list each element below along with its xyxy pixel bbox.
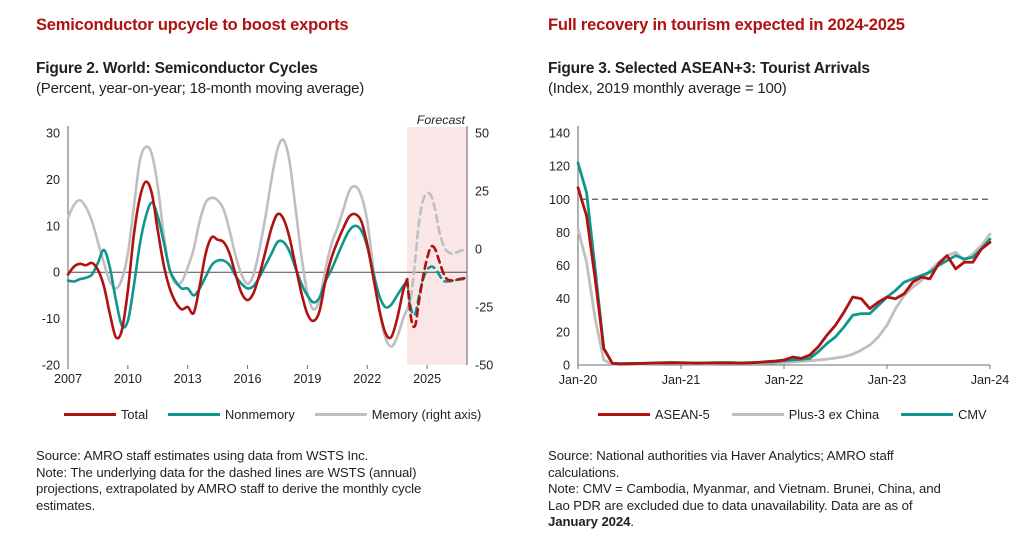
- svg-text:2013: 2013: [174, 372, 202, 386]
- right-note-bold-date: January 2024: [548, 514, 630, 529]
- svg-text:-50: -50: [475, 359, 493, 373]
- tourist-arrivals-svg: 020406080100120140Jan-20Jan-21Jan-22Jan-…: [512, 112, 1024, 402]
- right-source-line-2: calculations.: [548, 465, 1018, 482]
- series-line: [578, 188, 990, 364]
- right-axes: [578, 126, 990, 365]
- svg-text:60: 60: [556, 259, 570, 273]
- svg-text:Jan-24: Jan-24: [971, 373, 1010, 387]
- svg-text:Jan-22: Jan-22: [765, 373, 804, 387]
- svg-text:Jan-20: Jan-20: [559, 373, 598, 387]
- legend-swatch-nonmemory: [168, 413, 220, 416]
- legend-label-asean5: ASEAN-5: [655, 407, 710, 422]
- svg-text:50: 50: [475, 127, 489, 141]
- svg-text:100: 100: [549, 193, 570, 207]
- left-note-line-2: projections, extrapolated by AMRO staff …: [36, 481, 506, 498]
- svg-text:-10: -10: [42, 312, 60, 326]
- legend-label-memory: Memory (right axis): [372, 407, 482, 422]
- right-note-line-1: Note: CMV = Cambodia, Myanmar, and Vietn…: [548, 481, 1018, 498]
- svg-text:140: 140: [549, 127, 570, 141]
- svg-text:40: 40: [556, 292, 570, 306]
- left-banner-headline: Semiconductor upcycle to boost exports: [36, 16, 502, 34]
- legend-swatch-asean5: [598, 413, 650, 416]
- svg-text:0: 0: [475, 243, 482, 257]
- figure-3-panel: Full recovery in tourism expected in 202…: [512, 0, 1024, 559]
- svg-text:120: 120: [549, 160, 570, 174]
- svg-text:0: 0: [563, 359, 570, 373]
- legend-item-plus3: Plus-3 ex China: [732, 407, 879, 422]
- right-banner-headline: Full recovery in tourism expected in 202…: [548, 16, 1014, 34]
- right-note-tail: .: [630, 514, 634, 529]
- right-tick-labels: 020406080100120140Jan-20Jan-21Jan-22Jan-…: [549, 127, 1009, 388]
- forecast-label: Forecast: [417, 113, 466, 127]
- figure-2-legend: Total Nonmemory Memory (right axis): [64, 407, 481, 422]
- legend-label-cmv: CMV: [958, 407, 986, 422]
- right-note-line-2: Lao PDR are excluded due to data unavail…: [548, 498, 1018, 515]
- legend-label-total: Total: [121, 407, 148, 422]
- right-figure-title: Figure 3. Selected ASEAN+3: Tourist Arri…: [548, 60, 1016, 78]
- legend-label-nonmemory: Nonmemory: [225, 407, 295, 422]
- figure-3-legend: ASEAN-5 Plus-3 ex China CMV: [598, 407, 987, 422]
- left-note-line-3: estimates.: [36, 498, 506, 515]
- svg-text:2025: 2025: [413, 372, 441, 386]
- legend-swatch-memory: [315, 413, 367, 416]
- figure-2-chart: Forecast -20-100102030-50-25025502007201…: [0, 112, 512, 402]
- left-figure-subtitle: (Percent, year-on-year; 18-month moving …: [36, 80, 504, 98]
- svg-text:2007: 2007: [54, 372, 82, 386]
- svg-text:Jan-23: Jan-23: [868, 373, 907, 387]
- right-figure-subtitle: (Index, 2019 monthly average = 100): [548, 80, 1016, 98]
- legend-item-memory: Memory (right axis): [315, 407, 482, 422]
- svg-text:30: 30: [46, 127, 60, 141]
- legend-swatch-cmv: [901, 413, 953, 416]
- left-source-line: Source: AMRO staff estimates using data …: [36, 448, 506, 465]
- left-figure-title: Figure 2. World: Semiconductor Cycles: [36, 60, 504, 78]
- legend-item-total: Total: [64, 407, 148, 422]
- legend-swatch-plus3: [732, 413, 784, 416]
- svg-text:-20: -20: [42, 359, 60, 373]
- svg-text:80: 80: [556, 226, 570, 240]
- legend-item-cmv: CMV: [901, 407, 986, 422]
- right-series-group: [578, 163, 990, 365]
- legend-label-plus3: Plus-3 ex China: [789, 407, 879, 422]
- figures-page: Semiconductor upcycle to boost exports F…: [0, 0, 1024, 559]
- legend-item-nonmemory: Nonmemory: [168, 407, 295, 422]
- series-line: [578, 229, 990, 364]
- svg-text:25: 25: [475, 185, 489, 199]
- left-note-line-1: Note: The underlying data for the dashed…: [36, 465, 506, 482]
- right-source-line-1: Source: National authorities via Haver A…: [548, 448, 1018, 465]
- svg-text:2016: 2016: [234, 372, 262, 386]
- svg-text:20: 20: [46, 173, 60, 187]
- svg-text:2010: 2010: [114, 372, 142, 386]
- figure-3-chart: 020406080100120140Jan-20Jan-21Jan-22Jan-…: [512, 112, 1024, 402]
- right-note-line-3: January 2024.: [548, 514, 1018, 531]
- svg-text:20: 20: [556, 325, 570, 339]
- series-line: [578, 163, 990, 364]
- svg-text:10: 10: [46, 219, 60, 233]
- semiconductor-cycles-svg: Forecast -20-100102030-50-25025502007201…: [0, 112, 512, 402]
- svg-text:2019: 2019: [293, 372, 321, 386]
- legend-swatch-total: [64, 413, 116, 416]
- svg-text:2022: 2022: [353, 372, 381, 386]
- svg-text:Jan-21: Jan-21: [662, 373, 701, 387]
- figure-2-panel: Semiconductor upcycle to boost exports F…: [0, 0, 512, 559]
- figure-2-notes: Source: AMRO staff estimates using data …: [36, 448, 506, 514]
- figure-3-notes: Source: National authorities via Haver A…: [548, 448, 1018, 531]
- legend-item-asean5: ASEAN-5: [598, 407, 710, 422]
- svg-text:0: 0: [53, 266, 60, 280]
- svg-text:-25: -25: [475, 301, 493, 315]
